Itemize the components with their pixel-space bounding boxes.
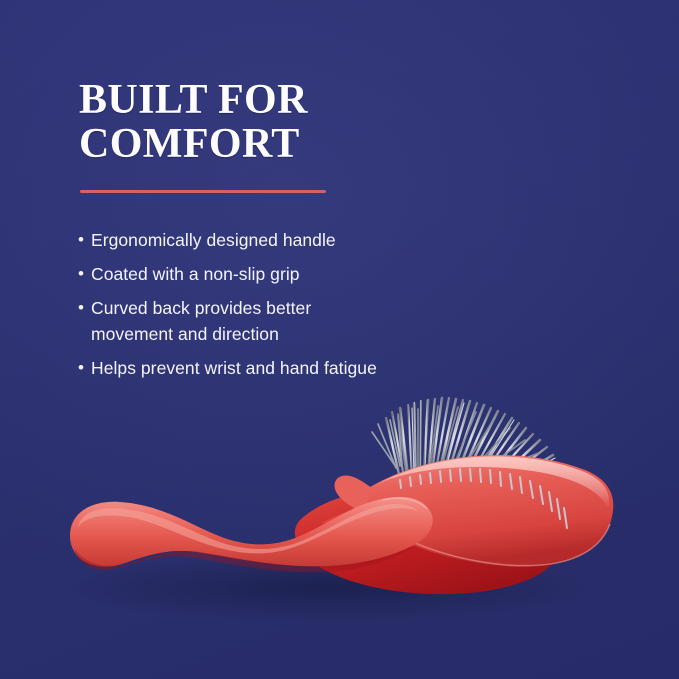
list-item-label: Ergonomically designed handle bbox=[91, 227, 336, 253]
title-divider bbox=[80, 190, 326, 193]
headline-line-2: COMFORT bbox=[79, 122, 499, 166]
bullet-marker-icon: • bbox=[78, 227, 91, 253]
list-item: • Ergonomically designed handle bbox=[78, 227, 498, 253]
bullet-marker-icon: • bbox=[78, 295, 91, 321]
bullet-marker-icon: • bbox=[78, 355, 91, 381]
product-feature-graphic: BUILT FOR COMFORT • Ergonomically design… bbox=[0, 0, 679, 679]
list-item: • Curved back provides better movement a… bbox=[78, 295, 498, 347]
bullet-marker-icon: • bbox=[78, 261, 91, 287]
list-item-label: Helps prevent wrist and hand fatigue bbox=[91, 355, 377, 381]
feature-list: • Ergonomically designed handle • Coated… bbox=[78, 227, 498, 389]
list-item-label: Coated with a non-slip grip bbox=[91, 261, 300, 287]
list-item: • Helps prevent wrist and hand fatigue bbox=[78, 355, 498, 381]
page-title: BUILT FOR COMFORT bbox=[79, 78, 499, 166]
list-item-label: Curved back provides better movement and… bbox=[91, 295, 311, 347]
headline-line-1: BUILT FOR bbox=[79, 78, 499, 122]
list-item: • Coated with a non-slip grip bbox=[78, 261, 498, 287]
headline: BUILT FOR COMFORT bbox=[79, 78, 499, 166]
